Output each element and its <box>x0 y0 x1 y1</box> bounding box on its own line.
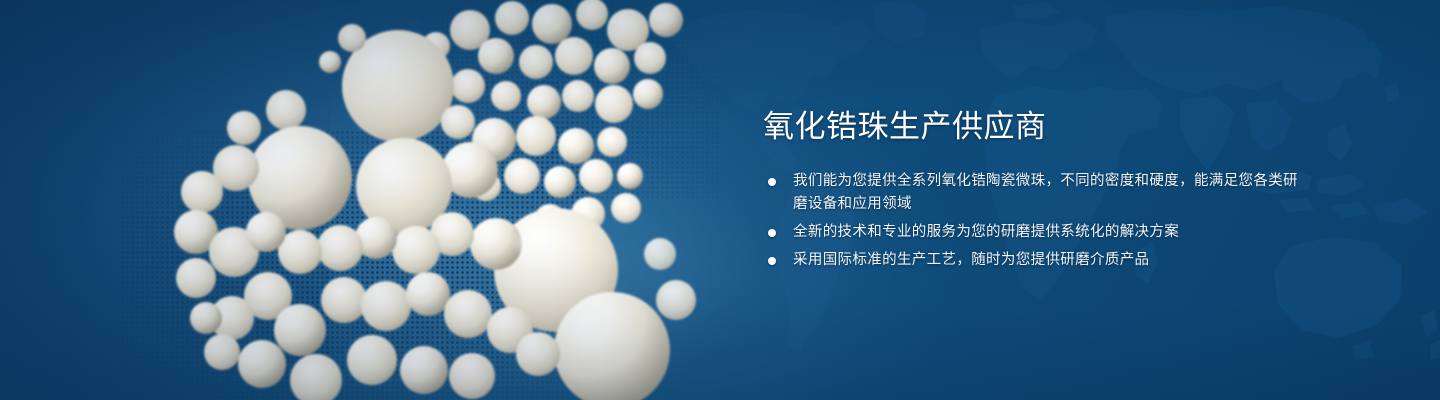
banner-headline: 氧化锆珠生产供应商 <box>763 109 1047 145</box>
bullet-text-3: 采用国际标准的生产工艺，随时为您提供研磨介质产品 <box>793 252 1149 268</box>
product-hero-banner: 氧化锆珠生产供应商 我们能为您提供全系列氧化锆陶瓷微珠，不同的密度和硬度，能满足… <box>0 0 1440 400</box>
banner-text-block: 氧化锆珠生产供应商 我们能为您提供全系列氧化锆陶瓷微珠，不同的密度和硬度，能满足… <box>763 0 1323 400</box>
bullet-marker-icon <box>768 229 776 237</box>
bullet-marker-icon <box>768 178 776 186</box>
bullet-item-1: 我们能为您提供全系列氧化锆陶瓷微珠，不同的密度和硬度，能满足您各类研磨设备和应用… <box>768 170 1308 216</box>
bullet-item-3: 采用国际标准的生产工艺，随时为您提供研磨介质产品 <box>768 249 1308 272</box>
bullet-marker-icon <box>768 257 776 265</box>
bullet-text-1: 我们能为您提供全系列氧化锆陶瓷微珠，不同的密度和硬度，能满足您各类研磨设备和应用… <box>793 173 1298 212</box>
banner-bullet-list: 我们能为您提供全系列氧化锆陶瓷微珠，不同的密度和硬度，能满足您各类研磨设备和应用… <box>768 170 1308 277</box>
bullet-text-2: 全新的技术和专业的服务为您的研磨提供系统化的解决方案 <box>793 224 1179 240</box>
bullet-item-2: 全新的技术和专业的服务为您的研磨提供系统化的解决方案 <box>768 221 1308 244</box>
